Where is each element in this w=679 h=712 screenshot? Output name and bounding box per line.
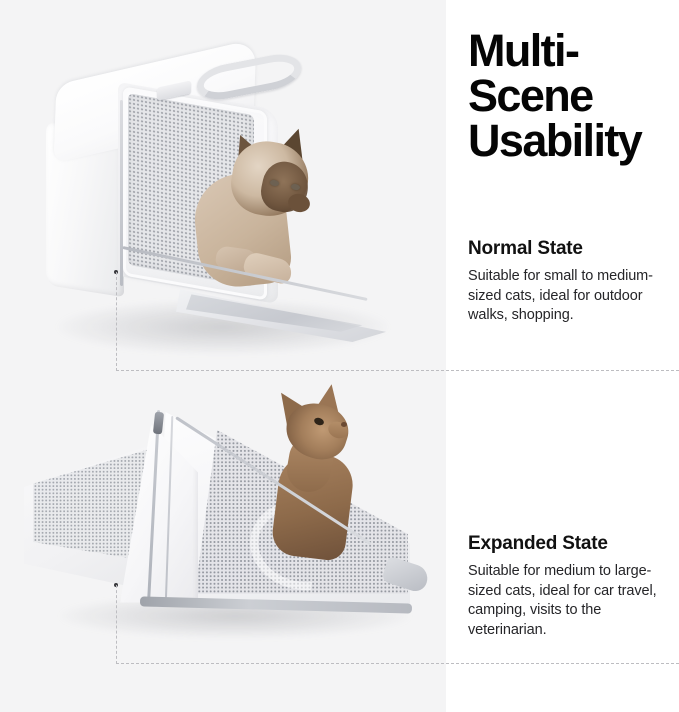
callout-horizontal-line-normal	[116, 370, 679, 371]
section-title-expanded-state: Expanded State	[468, 533, 676, 555]
zipper-pull	[153, 412, 164, 435]
section-description-expanded-state: Suitable for medium to large-sized cats,…	[468, 562, 676, 640]
callout-vertical-line-normal	[116, 272, 117, 371]
product-photo-normal-state	[0, 0, 446, 368]
page-title: Multi-Scene Usability	[468, 28, 679, 163]
section-title-normal-state: Normal State	[468, 238, 676, 260]
callout-horizontal-line-expanded	[116, 663, 679, 664]
section-description-normal-state: Suitable for small to medium-sized cats,…	[468, 267, 676, 326]
siamese-cat	[196, 128, 326, 298]
product-photo-expanded-state	[0, 372, 446, 664]
section-expanded-state: Expanded State Suitable for medium to la…	[468, 533, 676, 640]
callout-vertical-line-expanded	[116, 585, 117, 664]
section-normal-state: Normal State Suitable for small to mediu…	[468, 238, 676, 326]
abyssinian-cat	[258, 382, 388, 552]
carrier-vertical-zipper	[120, 100, 123, 286]
infographic-page: Multi-Scene Usability Normal State Suita…	[0, 0, 679, 712]
cat-nose	[341, 422, 347, 427]
